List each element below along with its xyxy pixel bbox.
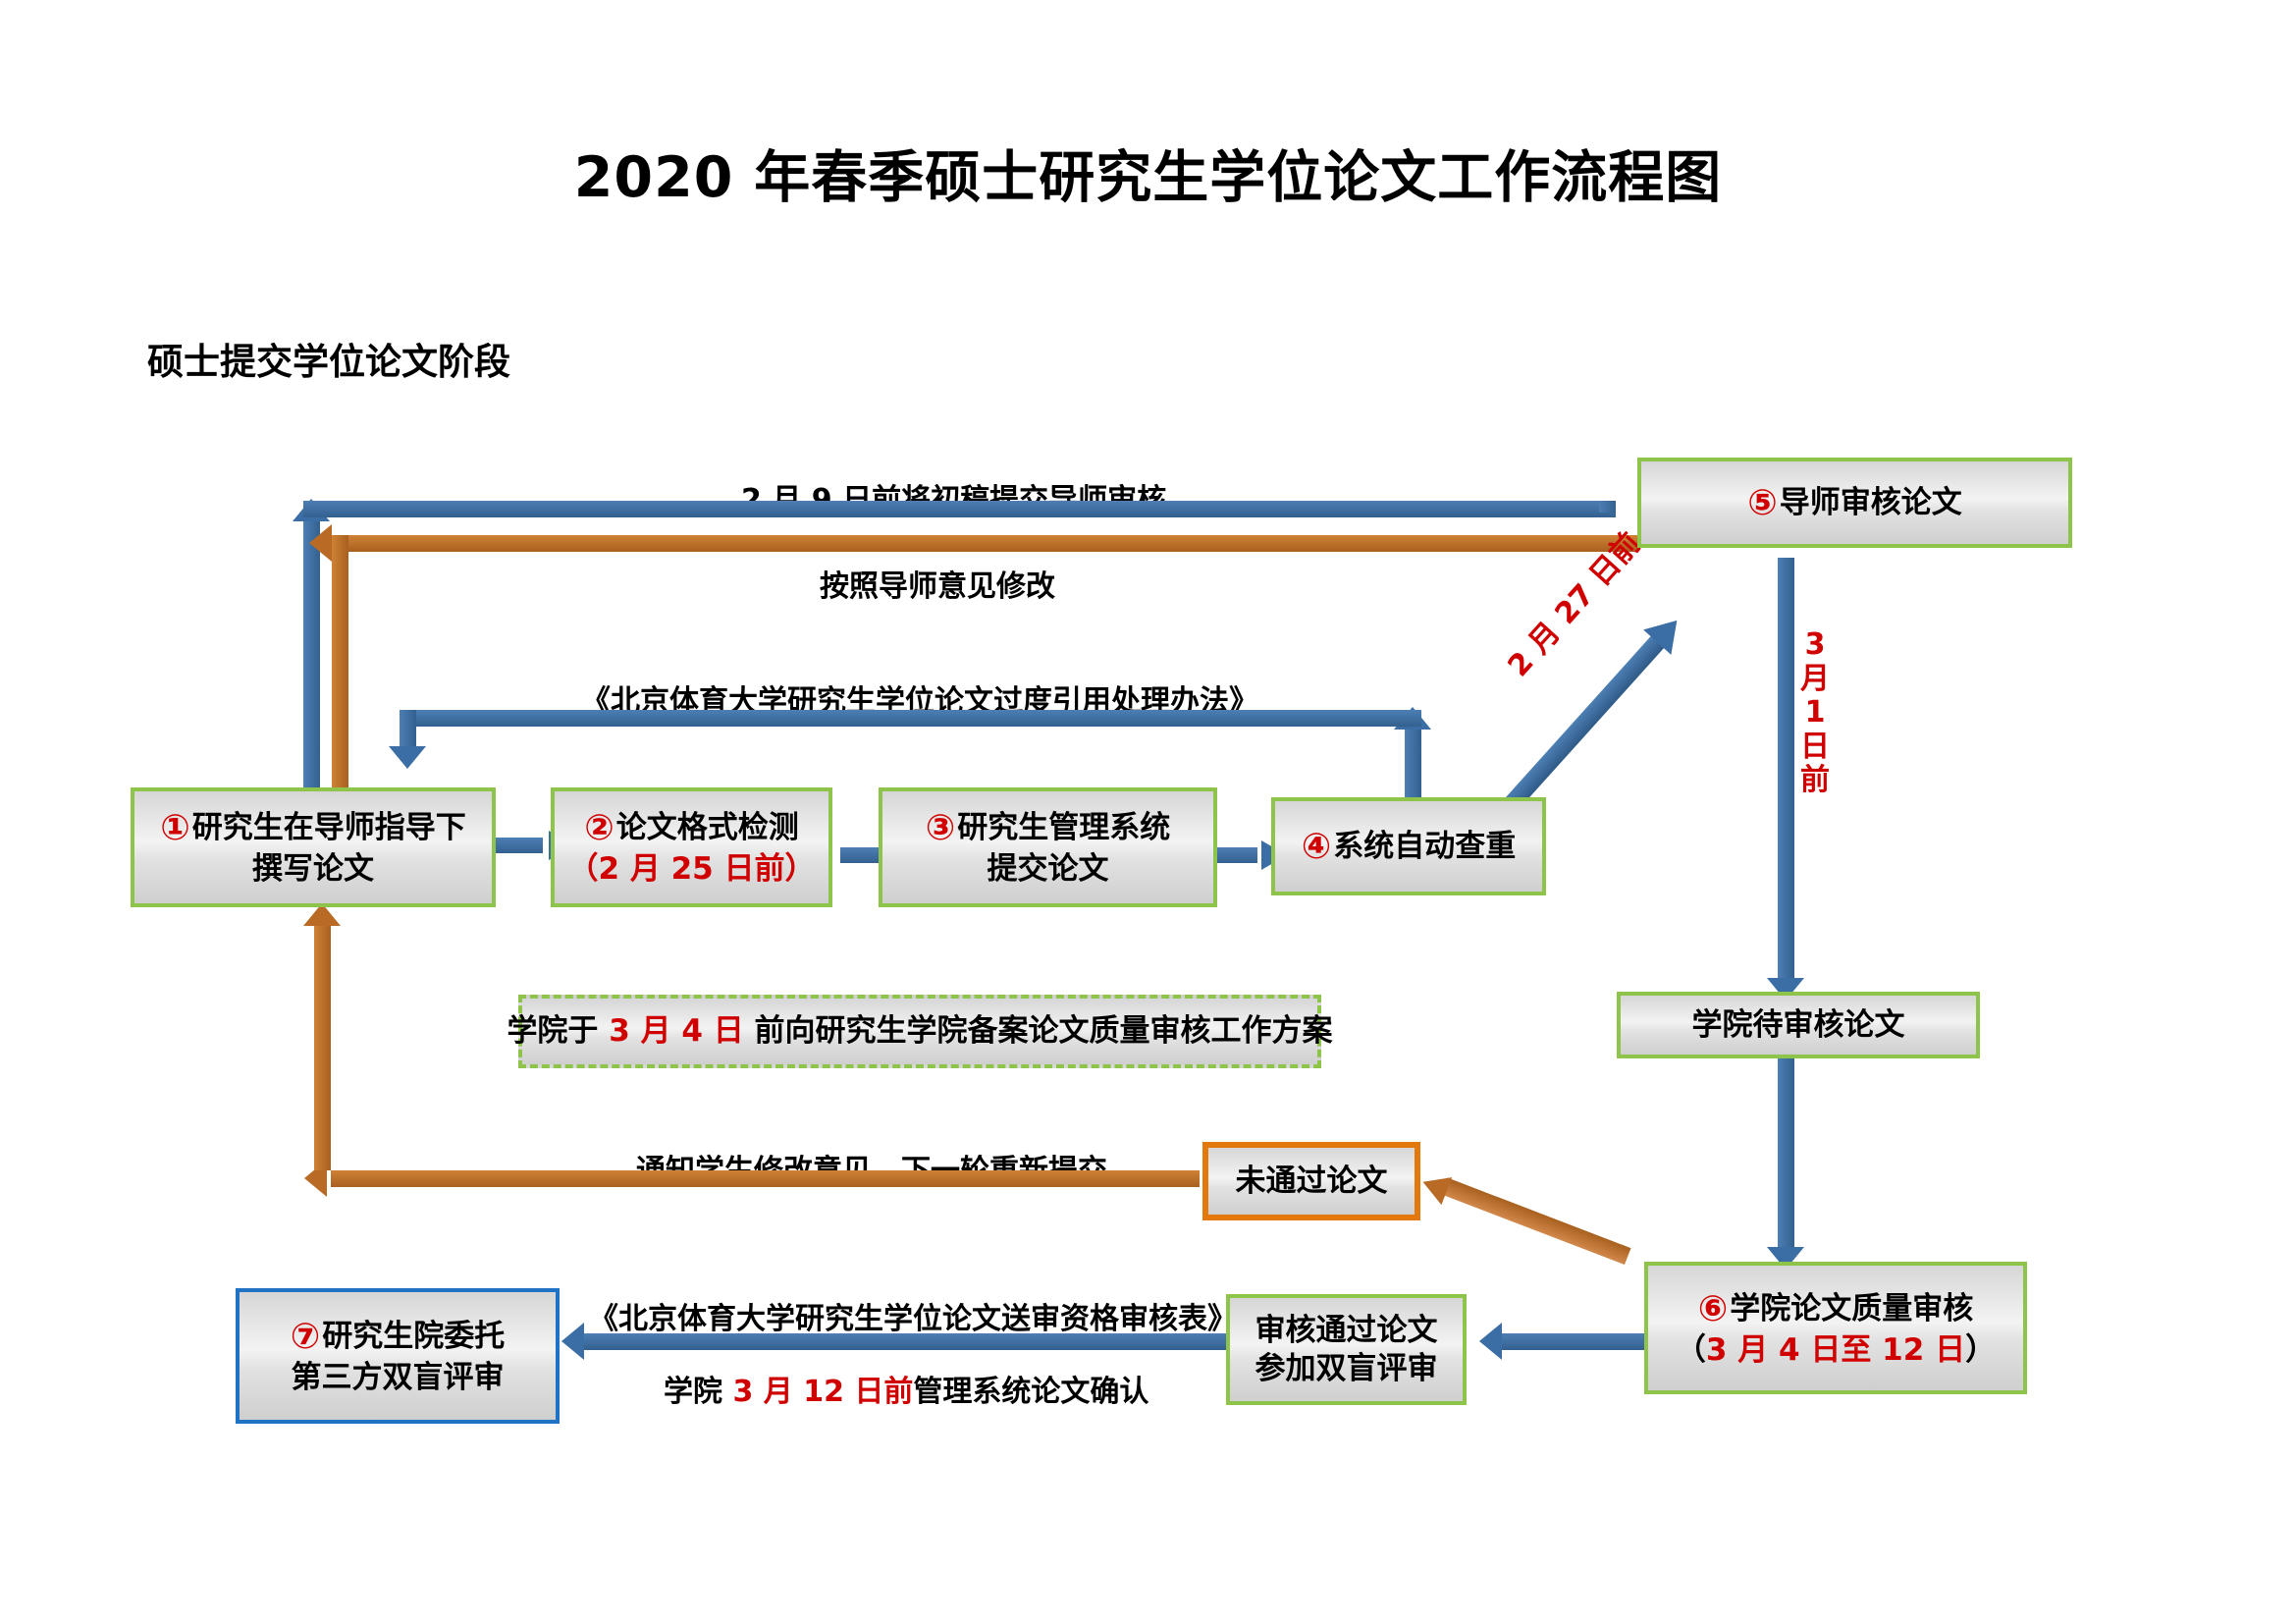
node-step6-line2: （3 月 4 日至 12 日） xyxy=(1676,1331,1996,1370)
confirm-suffix: 管理系统论文确认 xyxy=(913,1375,1148,1409)
node-step1[interactable]: ①研究生在导师指导下 撰写论文 xyxy=(131,787,496,907)
page-title: 2020 年春季硕士研究生学位论文工作流程图 xyxy=(0,147,2296,209)
arrow-orange-notify-up-stem xyxy=(314,923,331,1170)
node-step6[interactable]: ⑥学院论文质量审核 （3 月 4 日至 12 日） xyxy=(1644,1262,2027,1394)
edge-label-qualification-form: 《北京体育大学研究生学位论文送审资格审核表》 xyxy=(589,1294,1237,1337)
flowchart-canvas: 2020 年春季硕士研究生学位论文工作流程图 硕士提交学位论文阶段 2 月 9 … xyxy=(0,0,2296,1624)
node-step7[interactable]: ⑦研究生院委托 第三方双盲评审 xyxy=(236,1288,560,1424)
node-step3-line1: ③研究生管理系统 xyxy=(926,806,1170,850)
arrow-blue-step6-to-passed-head xyxy=(1479,1323,1502,1360)
node-passed-paper[interactable]: 审核通过论文 参加双盲评审 xyxy=(1226,1294,1467,1405)
node-step1-line1: ①研究生在导师指导下 xyxy=(160,806,465,850)
arrow-blue-step5-to-pending xyxy=(1778,558,1794,980)
arrow-orange-diagonal-failed xyxy=(1414,1184,1625,1265)
node-pending-review[interactable]: 学院待审核论文 xyxy=(1617,992,1980,1058)
node-step1-line2: 撰写论文 xyxy=(252,850,374,889)
arrow-orange-down-stem xyxy=(332,535,348,813)
node-step6-line1: ⑥学院论文质量审核 xyxy=(1698,1287,1973,1331)
confirm-deadline: 3 月 12 日前 xyxy=(732,1375,913,1409)
node-pending-review-line1: 学院待审核论文 xyxy=(1692,1006,1905,1045)
node-college-plan[interactable]: 学院于 3 月 4 日 前向研究生学院备案论文质量审核工作方案 xyxy=(518,995,1321,1068)
arrow-blue-top-run-joint xyxy=(1599,501,1616,513)
node-step2-line1: ②论文格式检测 xyxy=(584,806,798,850)
node-passed-paper-line2: 参加双盲评审 xyxy=(1255,1350,1438,1388)
edge-label-deadline-mar1: 3月1日前 xyxy=(1798,628,1832,798)
arrow-blue-up-stem xyxy=(303,518,320,813)
arrow-blue-passed-to-step7 xyxy=(584,1333,1227,1350)
edge-label-confirm-in-system: 学院 3 月 12 日前管理系统论文确认 xyxy=(664,1367,1148,1410)
arrow-orange-return-run xyxy=(332,535,1637,552)
node-step3[interactable]: ③研究生管理系统 提交论文 xyxy=(879,787,1217,907)
edge-label-revise-per-advisor: 按照导师意见修改 xyxy=(820,562,1055,605)
section-subtitle: 硕士提交学位论文阶段 xyxy=(147,332,510,385)
node-step2-line2: （2 月 25 日前） xyxy=(567,850,815,889)
node-step5[interactable]: ⑤导师审核论文 xyxy=(1637,458,2072,548)
node-passed-paper-line1: 审核通过论文 xyxy=(1255,1312,1438,1350)
node-step2[interactable]: ②论文格式检测 （2 月 25 日前） xyxy=(551,787,832,907)
arrow-blue-top-run xyxy=(303,501,1616,517)
node-step3-line2: 提交论文 xyxy=(988,850,1109,889)
node-step4[interactable]: ④系统自动查重 xyxy=(1271,797,1546,895)
node-failed-paper-line1: 未通过论文 xyxy=(1236,1163,1388,1201)
node-step4-line1: ④系统自动查重 xyxy=(1302,825,1516,869)
node-step7-line2: 第三方双盲评审 xyxy=(292,1359,505,1397)
arrow-orange-notify-run xyxy=(331,1170,1200,1187)
arrow-blue-passed-to-step7-head xyxy=(561,1323,584,1360)
confirm-prefix: 学院 xyxy=(664,1375,732,1409)
node-step5-line1: ⑤导师审核论文 xyxy=(1747,481,1961,525)
node-failed-paper[interactable]: 未通过论文 xyxy=(1202,1142,1420,1220)
arrow-orange-return-head xyxy=(309,524,332,562)
arrow-blue-pending-to-step6 xyxy=(1778,1058,1794,1250)
arrow-blue-policy-corner xyxy=(400,710,416,749)
node-step7-line1: ⑦研究生院委托 xyxy=(291,1315,505,1359)
arrow-blue-policy-run xyxy=(416,710,1421,727)
node-college-plan-text: 学院于 3 月 4 日 前向研究生学院备案论文质量审核工作方案 xyxy=(507,1012,1332,1051)
arrow-blue-policy-down-head xyxy=(389,746,426,769)
